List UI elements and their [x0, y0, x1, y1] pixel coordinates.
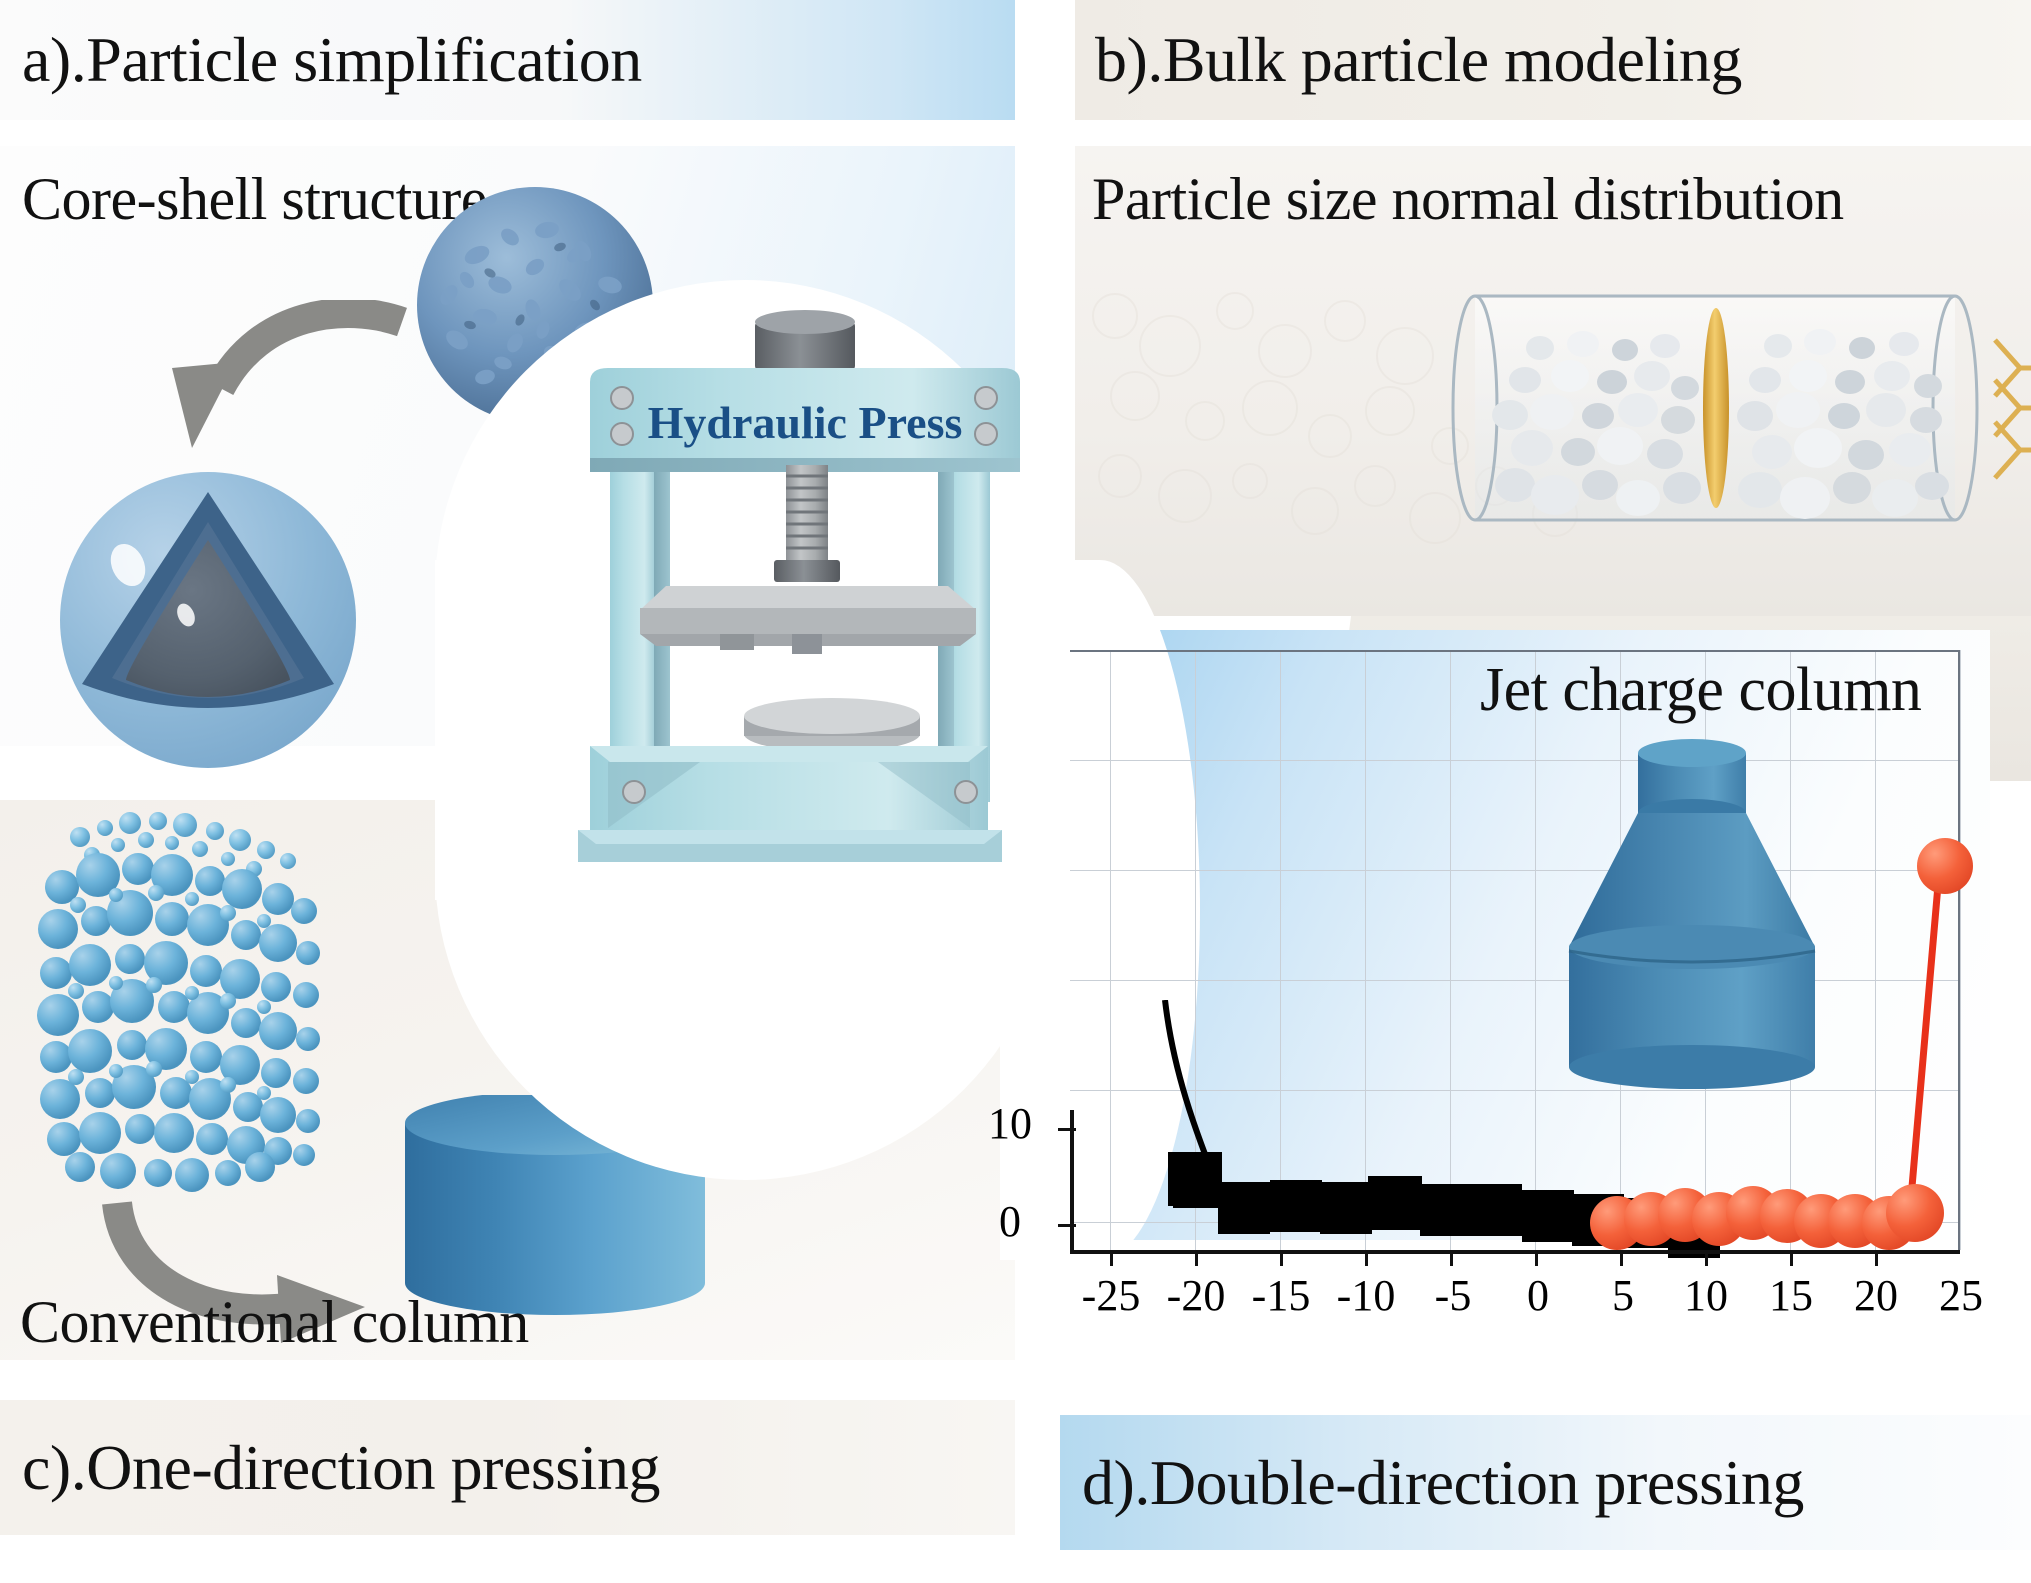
chart-ytick [1058, 1224, 1076, 1227]
chart-gridline-v [1450, 650, 1451, 1250]
chart-xlabel: -15 [1235, 1270, 1327, 1321]
panel-b-label: b).Bulk particle modeling [1095, 23, 1742, 97]
panel-c-caption: Conventional column [20, 1288, 529, 1357]
chart-xlabel: -10 [1320, 1270, 1412, 1321]
chart-series-black-point [1368, 1176, 1422, 1230]
core-shell-cutaway-sphere-icon [58, 470, 358, 770]
panel-a-label-bar: a).Particle simplification [0, 0, 1015, 120]
figure-root: a).Particle simplification b).Bulk parti… [0, 0, 2031, 1583]
chart-xlabel: 10 [1660, 1270, 1752, 1321]
chart-xtick [1450, 1250, 1453, 1266]
chart-axis-x [1070, 1250, 1960, 1254]
chart-xtick [1110, 1250, 1113, 1266]
chart-xlabel: -25 [1065, 1270, 1157, 1321]
panel-d-label: d).Double-direction pressing [1082, 1446, 1804, 1520]
panel-a-label: a).Particle simplification [22, 23, 642, 97]
chart-gridline-v [1535, 650, 1536, 1250]
chart-xtick [1365, 1250, 1368, 1266]
chart-gridline-v [1365, 650, 1366, 1250]
particle-cylinder-icon [20, 795, 350, 1215]
chart-series-black-point [1168, 1152, 1222, 1206]
chart-xlabel: 5 [1577, 1270, 1669, 1321]
hydraulic-press-illustration: Hydraulic Press [570, 310, 1040, 900]
chart-xtick [1280, 1250, 1283, 1266]
chart-xtick [1620, 1250, 1623, 1266]
transparent-cylinder-with-particles-icon [1420, 280, 2031, 580]
chart-ylabel-10: 10 [970, 1098, 1050, 1149]
hydraulic-press-text: Hydraulic Press [648, 397, 963, 448]
chart-xtick [1790, 1250, 1793, 1266]
chart-series-red-point [1917, 838, 1973, 894]
chart-series-black-point [1320, 1182, 1372, 1234]
chart-xtick [1195, 1250, 1198, 1266]
panel-b-caption-top: Particle size normal distribution [1092, 165, 1844, 234]
chart-xlabel: 25 [1915, 1270, 2007, 1321]
chart-series-black-point [1218, 1182, 1270, 1234]
panel-d-label-bar: d).Double-direction pressing [1060, 1415, 2031, 1550]
chart-series-black-point [1522, 1190, 1574, 1242]
chart-ytick [1058, 1128, 1076, 1131]
chart-gridline-v [1110, 650, 1111, 1250]
chart-xtick [1535, 1250, 1538, 1266]
panel-c-label: c).One-direction pressing [22, 1431, 660, 1505]
chart-series-black-point [1470, 1184, 1522, 1236]
chart-xlabel: 15 [1745, 1270, 1837, 1321]
chart-xtick [1705, 1250, 1708, 1266]
chart-gridline-h [1070, 650, 1960, 652]
chart-series-black-point [1420, 1184, 1472, 1236]
chart-xlabel: -20 [1150, 1270, 1242, 1321]
panel-c-label-bar: c).One-direction pressing [0, 1400, 1015, 1535]
chart-series-black-point [1270, 1180, 1322, 1232]
panel-b-label-bar: b).Bulk particle modeling [1075, 0, 2031, 120]
chart-xlabel: 20 [1830, 1270, 1922, 1321]
chart-xlabel: -5 [1407, 1270, 1499, 1321]
chart-xtick [1875, 1250, 1878, 1266]
chart-xlabel: 0 [1492, 1270, 1584, 1321]
gold-lattice-icon [1995, 340, 2031, 478]
chart-ylabel-0: 0 [970, 1196, 1050, 1247]
panel-d-caption: Jet charge column [1480, 655, 1921, 726]
chart-series-red-point [1886, 1184, 1944, 1242]
chart-axis-y [1070, 1110, 1074, 1254]
